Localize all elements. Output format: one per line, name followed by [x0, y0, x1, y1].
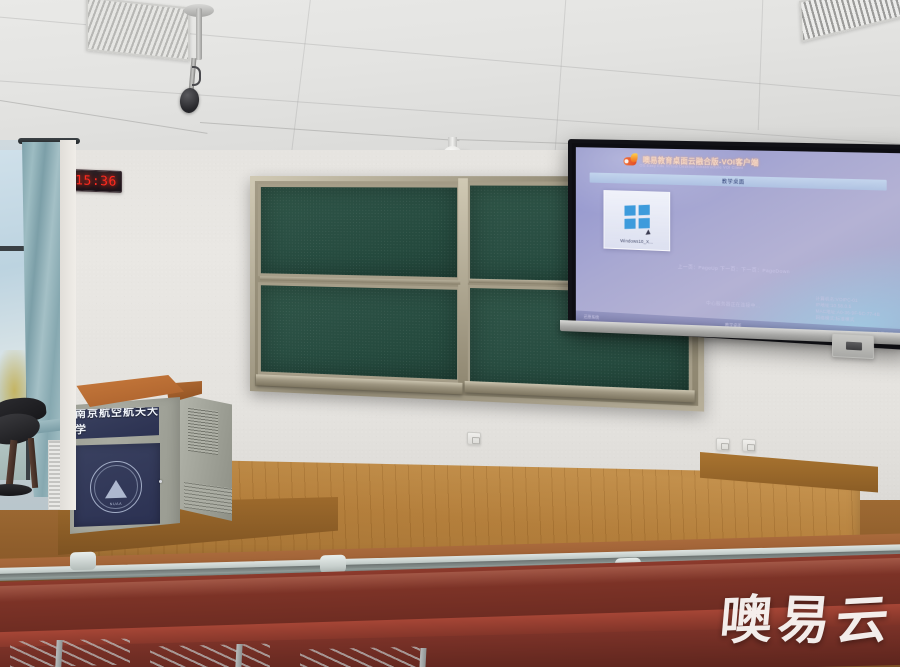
hvac-diffuser-icon	[86, 0, 190, 61]
desktop-card[interactable]: Windows10_X...	[604, 190, 671, 251]
desk-book-rack	[150, 644, 270, 667]
desk-leg	[235, 644, 242, 667]
desktop-card-label: Windows10_X...	[605, 237, 670, 245]
power-outlet-icon[interactable]	[716, 438, 730, 452]
university-nameplate: 南京航空航天大学 Nanjing University of Aeronauti…	[75, 407, 159, 439]
blackboard-panel-bottom-left[interactable]	[258, 282, 460, 383]
desk-leg	[420, 648, 427, 667]
chair-leg	[28, 438, 38, 488]
teaching-podium[interactable]: 南京航空航天大学 Nanjing University of Aeronauti…	[66, 375, 236, 540]
wall-corner-column	[60, 140, 76, 510]
power-outlet-icon[interactable]	[742, 439, 756, 453]
chair[interactable]	[0, 398, 54, 494]
podium-vent-upper	[188, 407, 218, 455]
desk-book-rack	[10, 639, 130, 667]
blackboard-divider	[458, 178, 468, 393]
windows-logo-icon	[624, 205, 649, 229]
cabinet-lock-icon[interactable]	[159, 480, 162, 483]
tab-teaching-desktop[interactable]: 教学桌面	[722, 177, 745, 185]
mouse-cursor-icon	[646, 229, 652, 236]
ceiling-mount-pole	[196, 8, 202, 60]
conduit-coupler	[70, 552, 96, 571]
blackboard-panel-top-left[interactable]	[258, 184, 460, 280]
wall-control-box-icon[interactable]	[832, 333, 874, 359]
cloud-flame-logo-icon	[623, 153, 638, 167]
led-wall-clock: 15:36	[70, 169, 122, 193]
chair-leg	[6, 440, 18, 488]
power-outlet-icon[interactable]	[467, 432, 481, 446]
desk-book-rack	[300, 647, 420, 667]
classroom-photo: 15:36 噢易教育桌面云融合版-VOI客户端 OS-Easy Edu Virt…	[0, 0, 900, 667]
led-clock-time: 15:36	[75, 173, 117, 189]
wall-display[interactable]: 噢易教育桌面云融合版-VOI客户端 OS-Easy Edu Virtual De…	[568, 139, 900, 350]
microphone-clip	[192, 66, 201, 86]
system-info-block: 计算机名:VOIPC-01 IP地址:10.58.0.5 MAC地址:A0-36…	[816, 296, 880, 326]
display-screen[interactable]: 噢易教育桌面云融合版-VOI客户端 OS-Easy Edu Virtual De…	[576, 147, 900, 341]
